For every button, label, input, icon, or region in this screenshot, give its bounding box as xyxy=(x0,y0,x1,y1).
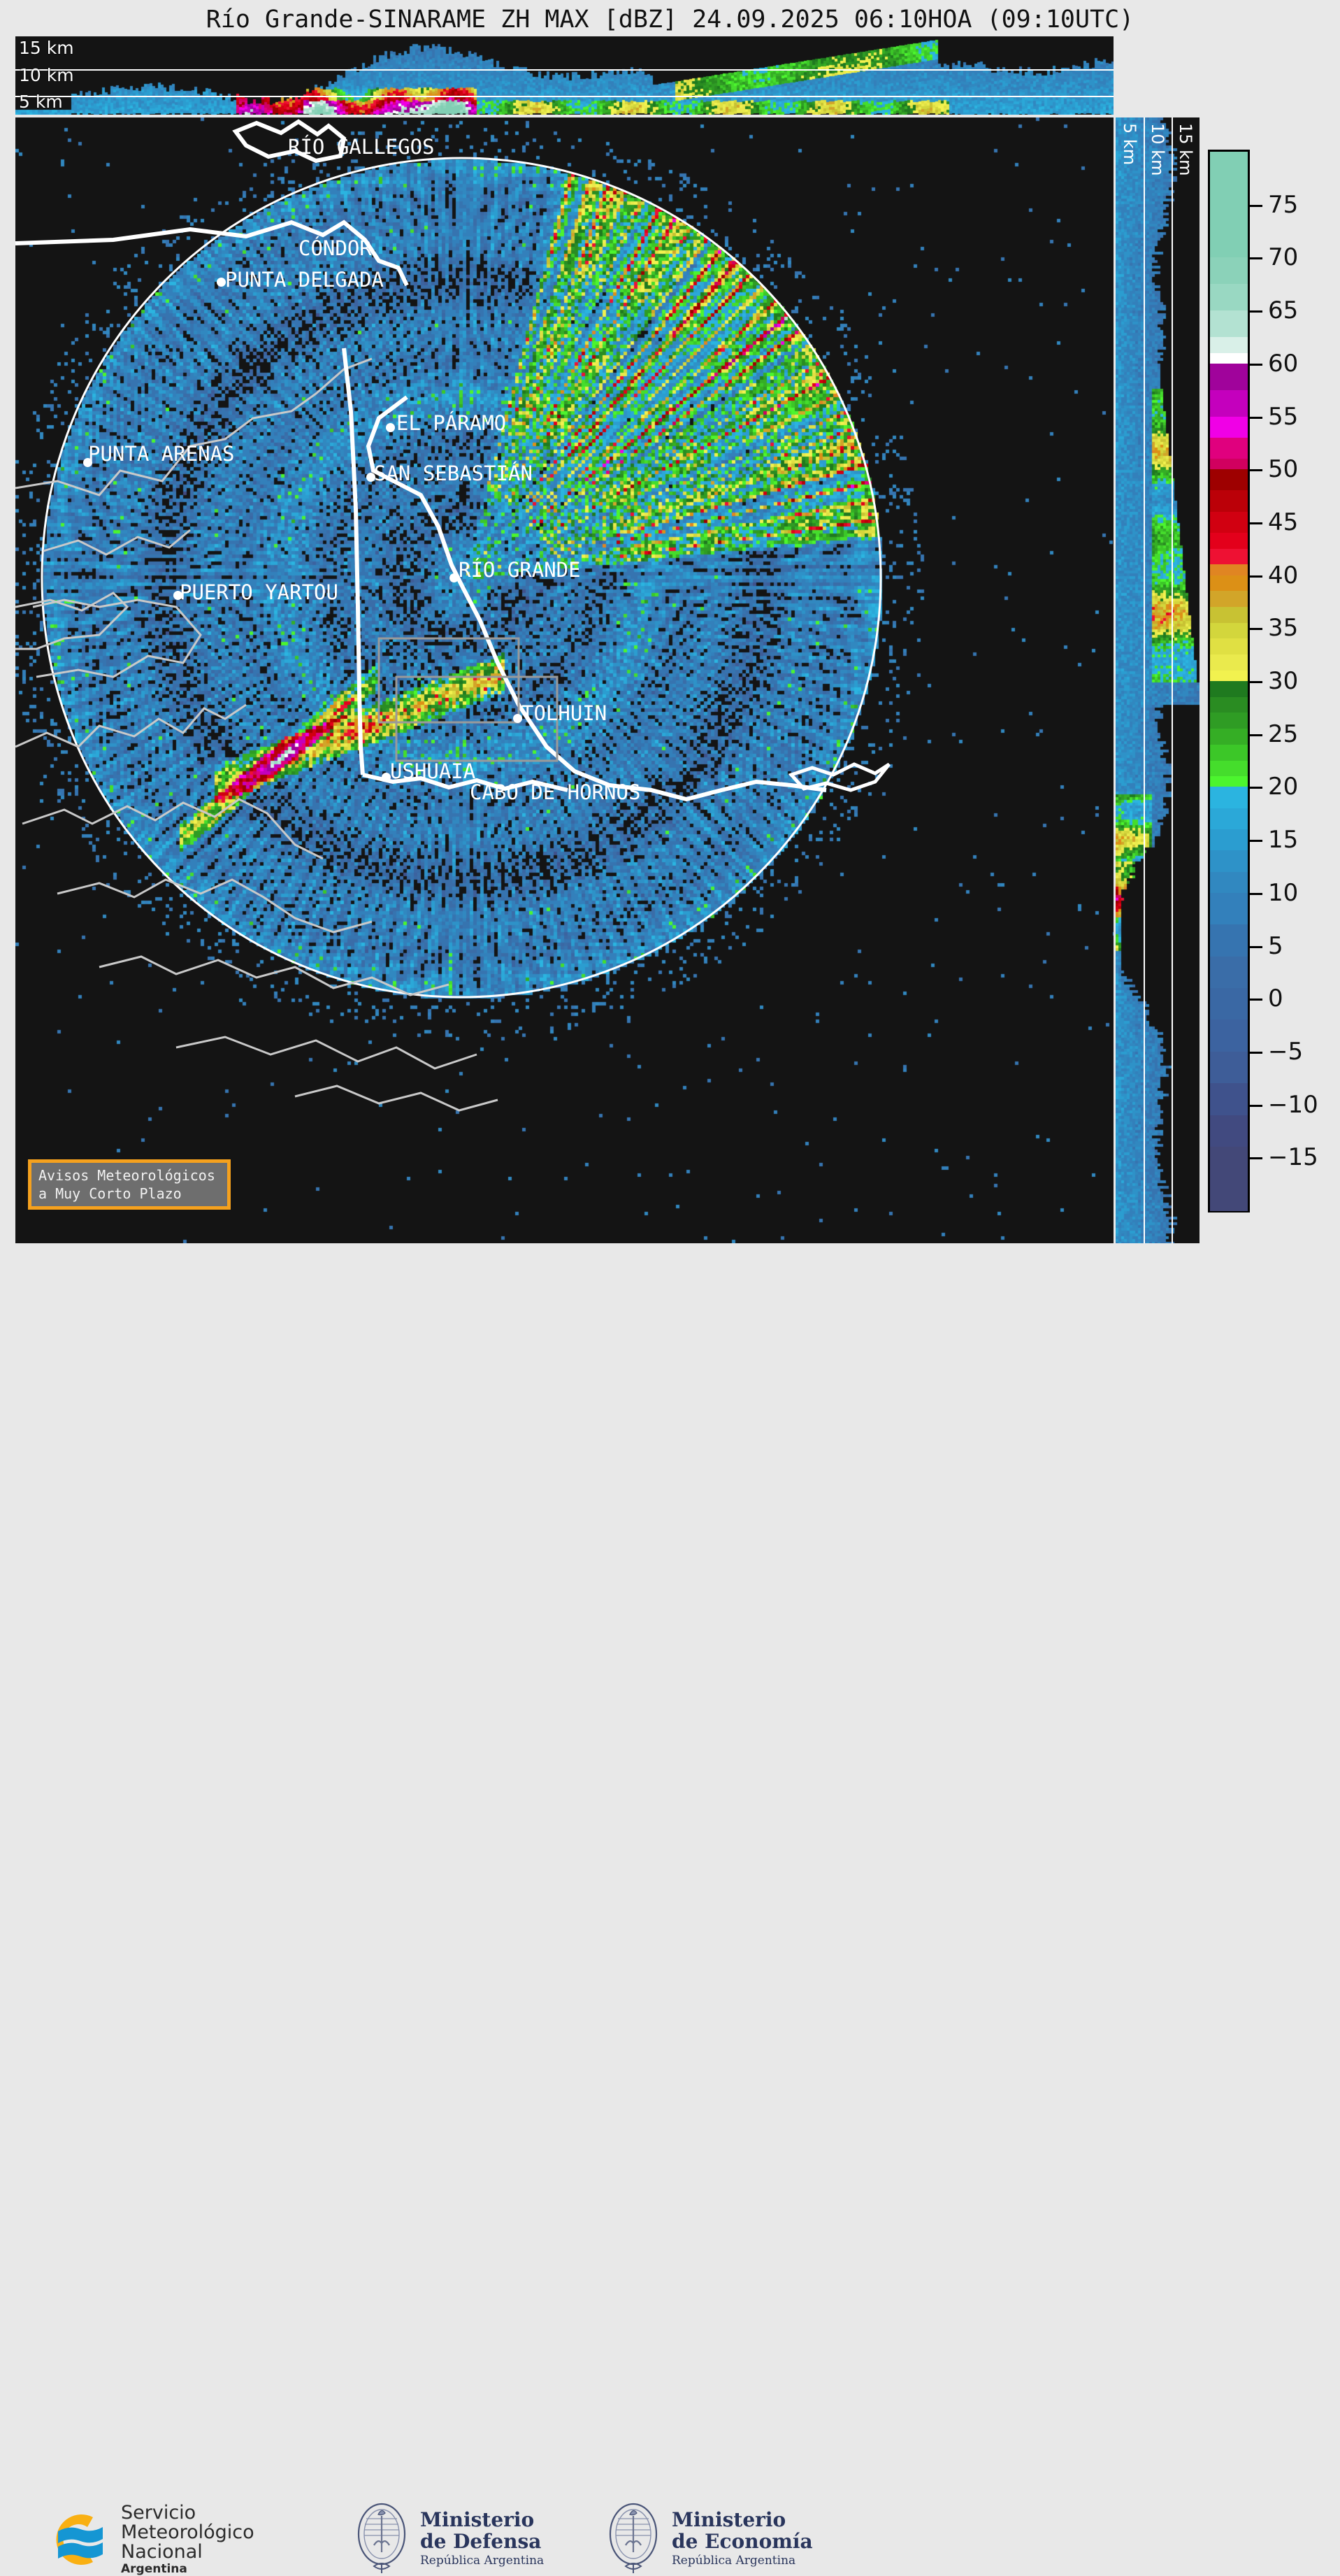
coastline-grey-4 xyxy=(22,799,323,859)
colorbar-tick xyxy=(1250,1052,1262,1054)
smn-logo: Servicio Meteorológico Nacional Argentin… xyxy=(38,2503,254,2576)
colorbar-tick-label: 75 xyxy=(1268,191,1298,219)
coastline-grey-6 xyxy=(99,957,449,995)
height-vline-10km xyxy=(1172,117,1173,1243)
colorbar-tick-label: 70 xyxy=(1268,243,1298,271)
city-marker-dot xyxy=(386,423,395,432)
warning-polygon-2 xyxy=(396,677,557,761)
colorbar-tick-label: 30 xyxy=(1268,667,1298,695)
height-gridline-5km xyxy=(15,96,1114,97)
height-gridline-10km xyxy=(15,69,1114,71)
colorbar-tick xyxy=(1250,522,1262,524)
colorbar-tick-label: 15 xyxy=(1268,826,1298,854)
colorbar-tick-label: −15 xyxy=(1268,1143,1318,1171)
coastline-grey-2 xyxy=(33,600,201,677)
smn-emblem-icon xyxy=(38,2505,111,2575)
top-height-label-15km: 15 km xyxy=(19,38,74,58)
warning-line-2: a Muy Corto Plazo xyxy=(38,1185,227,1203)
colorbar-tick xyxy=(1250,1105,1262,1107)
coastline-grey-9 xyxy=(295,1086,498,1110)
colorbar-tick-label: −5 xyxy=(1268,1038,1303,1066)
colorbar-tick-label: 50 xyxy=(1268,455,1298,483)
city-marker-dot xyxy=(382,773,391,782)
colorbar-tick-label: 40 xyxy=(1268,561,1298,589)
colorbar-tick xyxy=(1250,205,1262,207)
top-height-label-10km: 10 km xyxy=(19,65,74,85)
colorbar-tick-layer: 757065605550454035302520151050−5−10−15 xyxy=(1208,150,1340,1212)
colorbar-tick-label: 20 xyxy=(1268,773,1298,801)
colorbar-tick xyxy=(1250,787,1262,789)
top-height-label-5km: 5 km xyxy=(19,92,63,112)
range-ring-240km xyxy=(42,158,881,997)
ministerio-economia-logo: Ministerio de Economía República Argenti… xyxy=(605,2502,813,2575)
colorbar-tick xyxy=(1250,628,1262,630)
side-height-label-15km: 15 km xyxy=(1176,123,1195,176)
coastline-grey-5 xyxy=(57,880,372,932)
coastline-grey-7 xyxy=(176,1037,477,1068)
colorbar-tick xyxy=(1250,469,1262,471)
side-cross-section-canvas xyxy=(1116,117,1199,1243)
colorbar-tick-label: 45 xyxy=(1268,508,1298,536)
colorbar-tick-label: 0 xyxy=(1268,985,1283,1012)
defensa-line-3: República Argentina xyxy=(420,2554,544,2568)
city-marker-dot xyxy=(449,573,459,582)
side-height-label-5km: 5 km xyxy=(1120,123,1139,165)
footer-logos: Servicio Meteorológico Nacional Argentin… xyxy=(0,1245,1340,1335)
colorbar-tick xyxy=(1250,946,1262,948)
smn-text-line-3: Nacional xyxy=(121,2542,254,2562)
city-marker-dot xyxy=(217,278,226,287)
city-marker-dot xyxy=(513,714,522,723)
argentina-shield-icon-2 xyxy=(605,2502,662,2575)
colorbar-tick-label: 55 xyxy=(1268,403,1298,431)
side-height-label-10km: 10 km xyxy=(1148,123,1167,176)
smn-text-line-2: Meteorológico xyxy=(121,2523,254,2542)
beagle-channel xyxy=(363,775,568,790)
colorbar-tick-label: 35 xyxy=(1268,614,1298,642)
defensa-line-2: de Defensa xyxy=(420,2531,544,2553)
colorbar-tick-label: 10 xyxy=(1268,879,1298,907)
warning-line-1: Avisos Meteorológicos xyxy=(38,1166,227,1185)
colorbar-tick xyxy=(1250,364,1262,366)
colorbar-tick-label: 65 xyxy=(1268,296,1298,324)
colorbar-tick-label: −10 xyxy=(1268,1091,1318,1119)
coastline-grey-3 xyxy=(15,705,246,747)
colorbar-tick xyxy=(1250,840,1262,842)
colorbar-tick xyxy=(1250,310,1262,313)
coastline-grey-8 xyxy=(43,530,190,554)
smn-text-line-4: Argentina xyxy=(121,2563,254,2576)
argentina-shield-icon xyxy=(353,2502,410,2575)
economia-line-1: Ministerio xyxy=(672,2510,813,2531)
map-overlay-svg xyxy=(15,117,1114,1243)
radar-ppi-panel[interactable]: RÍO GALLEGOSCÓNDORPUNTA DELGADAEL PÁRAMO… xyxy=(15,117,1114,1243)
ministerio-defensa-logo: Ministerio de Defensa República Argentin… xyxy=(353,2502,544,2575)
smn-logo-text: Servicio Meteorológico Nacional Argentin… xyxy=(121,2503,254,2576)
city-marker-dot xyxy=(83,458,92,467)
warning-polygon-1 xyxy=(379,638,519,722)
economia-line-2: de Economía xyxy=(672,2531,813,2553)
colorbar-tick-label: 25 xyxy=(1268,720,1298,748)
tierra-del-fuego-atlantic-coast xyxy=(368,397,826,799)
colorbar-tick xyxy=(1250,893,1262,895)
colorbar-tick-label: 5 xyxy=(1268,932,1283,960)
weather-warning-box[interactable]: Avisos Meteorológicos a Muy Corto Plazo xyxy=(28,1159,231,1210)
height-vline-5km xyxy=(1144,117,1145,1243)
economia-line-3: República Argentina xyxy=(672,2554,813,2568)
smn-text-line-1: Servicio xyxy=(121,2503,254,2523)
colorbar-tick xyxy=(1250,1157,1262,1159)
colorbar-tick xyxy=(1250,734,1262,736)
ministerio-defensa-text: Ministerio de Defensa República Argentin… xyxy=(420,2510,544,2568)
city-marker-dot xyxy=(366,473,375,482)
colorbar-tick xyxy=(1250,681,1262,683)
colorbar-tick-label: 60 xyxy=(1268,350,1298,378)
top-cross-section-panel: 15 km 10 km 5 km xyxy=(15,36,1114,115)
border-north xyxy=(15,222,407,285)
rio-gallegos-coast xyxy=(236,122,344,161)
page-title: Río Grande-SINARAME ZH MAX [dBZ] 24.09.2… xyxy=(0,6,1340,34)
ministerio-economia-text: Ministerio de Economía República Argenti… xyxy=(672,2510,813,2568)
defensa-line-1: Ministerio xyxy=(420,2510,544,2531)
side-cross-section-panel: 5 km 10 km 15 km xyxy=(1116,117,1199,1243)
border-meridian xyxy=(344,348,363,775)
colorbar-tick xyxy=(1250,999,1262,1001)
colorbar-tick xyxy=(1250,575,1262,578)
colorbar-tick xyxy=(1250,257,1262,259)
city-marker-dot xyxy=(173,591,182,600)
colorbar-tick xyxy=(1250,417,1262,419)
top-cross-section-canvas xyxy=(15,36,1114,115)
